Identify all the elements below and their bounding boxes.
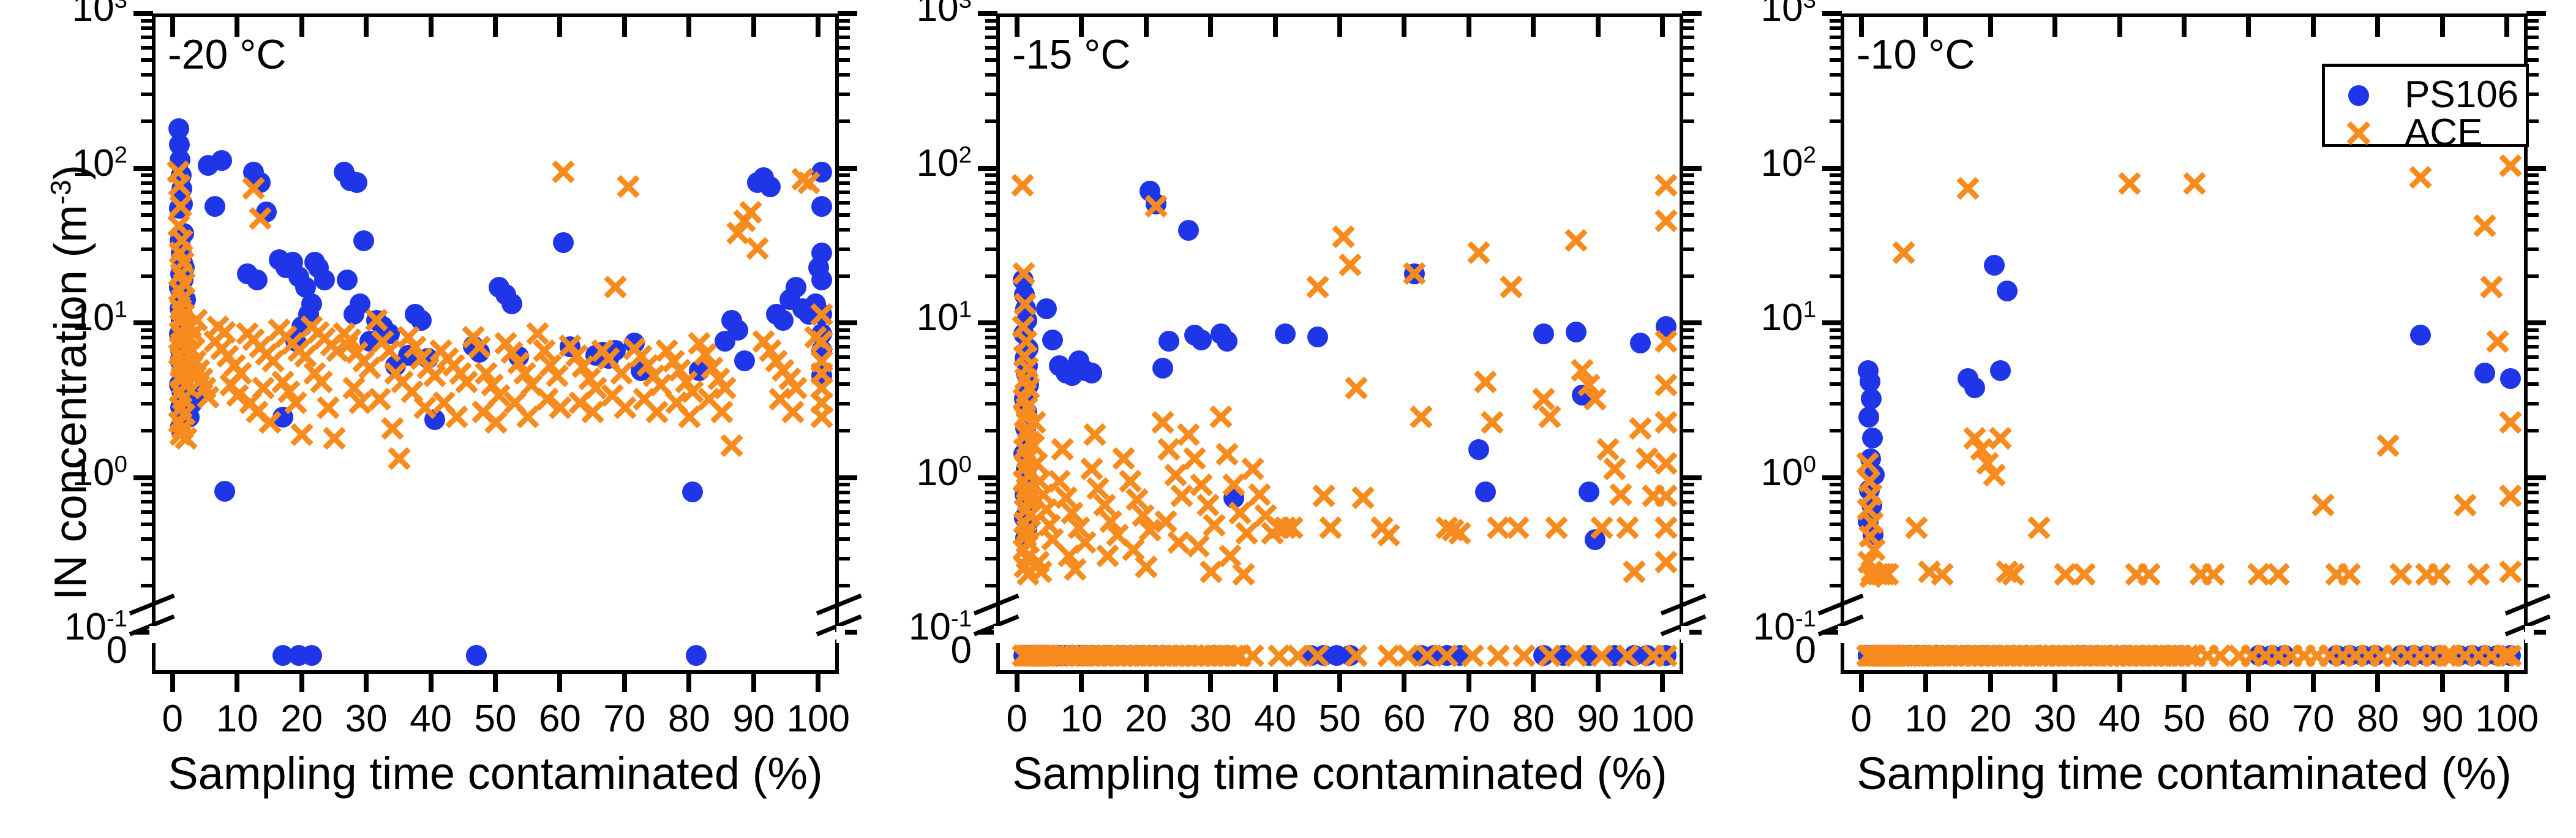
data-point-ace — [443, 404, 470, 431]
data-point-ps106 — [1015, 527, 1036, 548]
x-tick-top — [2052, 17, 2057, 37]
data-point-ace — [440, 352, 467, 379]
data-point-ace — [1039, 526, 1066, 553]
x-marker-stroke — [271, 370, 294, 393]
x-marker-stroke — [271, 370, 294, 393]
legend-marker-x — [2345, 119, 2373, 148]
data-point-ace — [350, 347, 377, 374]
x-marker-stroke — [1209, 406, 1232, 428]
data-point-ps106 — [1533, 323, 1554, 344]
x-tick-major — [2375, 674, 2380, 692]
x-marker-stroke — [1119, 470, 1141, 493]
data-point-ace — [783, 374, 809, 401]
x-marker-stroke — [1255, 504, 1277, 527]
data-point-ace — [1614, 515, 1641, 542]
y-tick-major-right — [2526, 320, 2546, 325]
x-marker-stroke — [791, 167, 814, 190]
data-point-ace — [599, 382, 626, 409]
x-marker-stroke — [1100, 510, 1122, 532]
x-marker-stroke — [1989, 426, 2011, 449]
x-marker-stroke — [1274, 516, 1296, 539]
y-tick-minor-right — [838, 402, 850, 406]
data-point-ace — [1009, 172, 1036, 198]
data-point-ps106 — [1579, 645, 1599, 666]
data-point-ace — [221, 352, 248, 379]
data-point-ace — [276, 378, 302, 405]
data-point-ps106 — [285, 331, 306, 352]
x-marker-stroke — [1196, 494, 1219, 516]
x-marker-stroke — [614, 396, 636, 418]
y-tick-minor-right — [2526, 402, 2539, 406]
x-marker-stroke — [349, 391, 372, 414]
x-marker-stroke — [778, 367, 801, 390]
x-marker-stroke — [1164, 463, 1187, 486]
x-marker-stroke — [242, 328, 265, 351]
data-point-ace — [1860, 561, 1887, 588]
data-point-ace — [1266, 515, 1293, 542]
x-marker-stroke — [1989, 426, 2011, 449]
y-tick-minor — [985, 483, 997, 486]
data-point-ace — [1440, 517, 1466, 544]
data-point-ace — [1653, 371, 1680, 398]
x-marker-stroke — [2415, 563, 2438, 586]
data-point-ace — [483, 409, 509, 436]
x-marker-stroke — [655, 339, 678, 361]
data-point-ps106 — [418, 348, 438, 369]
x-marker-stroke — [1048, 470, 1070, 493]
data-point-ace — [1217, 542, 1244, 569]
y-tick-minor — [1830, 173, 1842, 177]
x-marker-stroke — [633, 388, 656, 410]
data-point-ace — [1133, 553, 1160, 580]
x-marker-stroke — [1616, 516, 1639, 539]
x-marker-stroke — [2499, 560, 2522, 583]
data-point-ps106 — [1637, 645, 1658, 666]
legend: PS106ACE — [2322, 64, 2529, 147]
y-tick-minor — [1830, 584, 1842, 587]
y-tick-minor-right — [838, 584, 850, 587]
x-marker-stroke — [1067, 516, 1090, 539]
x-tick-top — [622, 17, 627, 37]
x-marker-stroke — [740, 200, 762, 223]
x-tick-top — [1660, 17, 1665, 37]
x-marker-stroke — [1306, 276, 1329, 298]
y-tick-minor-right — [1682, 191, 1694, 194]
x-marker-stroke — [617, 175, 639, 198]
x-marker-stroke — [2428, 563, 2451, 586]
x-marker-stroke — [1564, 229, 1587, 252]
data-point-ace — [2116, 170, 2143, 197]
x-marker-stroke — [1235, 522, 1258, 545]
x-marker-stroke — [1106, 523, 1128, 546]
x-marker-stroke — [1051, 438, 1074, 461]
y-tick-major — [133, 320, 153, 325]
x-marker-stroke — [2389, 563, 2412, 586]
x-marker-stroke — [649, 373, 672, 396]
y-tick-minor-right — [838, 368, 850, 371]
x-marker-stroke — [1248, 483, 1271, 506]
data-point-ace — [2310, 492, 2337, 519]
zero-value-strip-panel-3 — [1841, 640, 2528, 674]
x-tick-major — [1079, 674, 1084, 692]
data-point-ace — [518, 371, 545, 398]
legend-item-ace[interactable]: ACE — [2341, 111, 2482, 154]
x-marker-stroke — [223, 354, 246, 377]
x-marker-stroke — [1313, 485, 1335, 507]
x-tick-label: 100 — [1613, 697, 1711, 741]
y-tick-minor-right — [838, 355, 850, 359]
x-marker-stroke — [1013, 555, 1036, 578]
y-tick-minor-right — [1682, 429, 1694, 432]
data-point-ace — [631, 385, 658, 412]
data-point-ps106 — [1178, 220, 1199, 241]
x-marker-stroke — [1655, 209, 1678, 232]
y-tick-major-right — [2526, 11, 2546, 16]
x-marker-stroke — [1862, 563, 1885, 586]
x-marker-stroke — [2428, 563, 2451, 586]
x-marker-stroke — [1177, 423, 1200, 446]
y-tick-minor — [141, 201, 153, 205]
x-marker-stroke — [1345, 377, 1367, 399]
x-marker-stroke — [1866, 563, 1889, 586]
y-tick-minor-right — [838, 274, 850, 278]
data-point-ace — [1981, 461, 2008, 488]
x-marker-stroke — [278, 380, 301, 402]
x-tick-top — [299, 17, 304, 37]
x-marker-stroke — [442, 354, 465, 377]
legend-item-ps106[interactable]: PS106 — [2341, 73, 2518, 116]
x-marker-stroke — [1474, 370, 1496, 393]
y-tick-minor — [1830, 26, 1842, 30]
x-marker-stroke — [1067, 516, 1090, 539]
data-point-ace — [763, 347, 790, 374]
data-point-ps106 — [1656, 316, 1677, 337]
y-tick-minor — [1830, 274, 1842, 278]
data-point-ace — [253, 341, 280, 368]
x-marker-stroke — [1487, 644, 1509, 666]
x-marker-stroke — [278, 380, 301, 402]
x-marker-stroke — [1158, 438, 1181, 461]
x-marker-stroke — [246, 401, 268, 423]
x-marker-stroke — [1209, 406, 1232, 428]
data-point-ace — [260, 347, 287, 374]
x-marker-stroke — [481, 373, 504, 396]
data-point-ps106 — [1858, 407, 1879, 428]
x-marker-stroke — [1655, 452, 1678, 475]
x-marker-stroke — [207, 315, 230, 338]
data-point-ps106 — [689, 360, 710, 381]
data-point-ps106 — [272, 407, 293, 428]
y-tick-minor-right — [2526, 173, 2539, 177]
x-tick-major — [1596, 674, 1601, 692]
x-tick-major — [1273, 674, 1278, 692]
data-point-ace — [1653, 549, 1680, 576]
x-marker-stroke — [1545, 516, 1568, 539]
x-marker-stroke — [1931, 563, 1954, 586]
x-marker-stroke — [226, 383, 249, 406]
data-point-ace — [1062, 556, 1089, 583]
x-marker-stroke — [2499, 411, 2522, 434]
x-marker-stroke — [710, 401, 733, 423]
data-point-ace — [757, 337, 784, 364]
x-marker-stroke — [203, 330, 226, 353]
x-marker-stroke — [252, 377, 274, 399]
data-point-ace — [399, 378, 426, 405]
x-marker-stroke — [1248, 483, 1271, 506]
x-marker-stroke — [1996, 560, 2018, 583]
x-marker-stroke — [1435, 516, 1458, 539]
y-tick-minor — [985, 181, 997, 185]
data-point-ace — [1868, 561, 1894, 588]
data-point-ace — [1310, 483, 1337, 510]
data-point-ace — [534, 385, 561, 412]
x-marker-stroke — [720, 434, 743, 457]
x-marker-stroke — [1861, 560, 1883, 583]
data-point-ace — [473, 360, 500, 387]
data-point-ps106 — [1585, 529, 1605, 550]
x-marker-stroke — [2376, 434, 2399, 457]
y-tick-label: 103 — [1688, 0, 1816, 30]
data-point-ps106 — [1307, 327, 1328, 347]
x-marker-stroke — [481, 373, 504, 396]
data-point-ace — [234, 320, 261, 347]
x-marker-stroke — [1267, 516, 1290, 539]
data-point-ps106 — [1081, 363, 1102, 383]
x-marker-stroke — [220, 373, 242, 396]
x-marker-stroke — [536, 388, 558, 410]
data-point-ace — [201, 328, 228, 355]
data-point-ace — [1855, 549, 1882, 576]
data-point-ace — [1025, 549, 1052, 576]
data-point-ace — [1214, 440, 1241, 467]
x-marker-stroke — [1655, 551, 1678, 573]
x-marker-stroke — [332, 322, 355, 345]
data-point-ace — [579, 399, 606, 426]
x-marker-stroke — [1892, 241, 1915, 264]
x-marker-stroke — [352, 349, 375, 372]
x-tick-top — [2182, 17, 2187, 37]
x-marker-stroke — [1027, 551, 1050, 573]
y-tick-minor — [141, 557, 153, 561]
x-marker-stroke — [1135, 555, 1158, 578]
x-marker-stroke — [1274, 516, 1296, 539]
x-marker-stroke — [226, 383, 249, 406]
x-marker-stroke — [662, 349, 685, 372]
x-tick-top — [493, 17, 498, 37]
y-tick-minor — [141, 336, 153, 339]
y-tick-minor-right — [1682, 355, 1694, 359]
data-point-ace — [2387, 561, 2414, 588]
data-point-ace — [1375, 521, 1402, 548]
y-tick-label: 100 — [0, 451, 127, 494]
x-marker-stroke — [2305, 644, 2328, 666]
x-marker-stroke — [1862, 563, 1885, 586]
x-marker-stroke — [1500, 276, 1522, 298]
data-point-ps106 — [466, 645, 487, 666]
x-marker-stroke — [1016, 546, 1038, 569]
data-point-ace — [1929, 561, 1956, 588]
data-point-ace — [2465, 561, 2492, 588]
y-tick-minor — [1830, 181, 1842, 185]
y-tick-minor — [141, 58, 153, 62]
x-marker-stroke — [1280, 516, 1303, 539]
x-marker-stroke — [446, 406, 468, 428]
y-tick-minor — [985, 336, 997, 339]
x-marker-stroke — [811, 406, 833, 428]
x-marker-stroke — [1655, 411, 1678, 434]
x-marker-stroke — [772, 359, 794, 382]
legend-label: PS106 — [2405, 73, 2518, 116]
x-marker-stroke — [2292, 644, 2315, 666]
legend-marker-circle — [2348, 85, 2369, 106]
data-point-ace — [2413, 561, 2440, 588]
data-point-ace — [1304, 274, 1331, 301]
y-tick-minor — [141, 181, 153, 185]
y-tick-minor — [1830, 537, 1842, 541]
y-tick-minor-right — [1682, 36, 1694, 39]
x-marker-stroke — [1100, 510, 1122, 532]
data-point-ps106 — [631, 360, 652, 381]
data-point-ps106 — [760, 176, 781, 197]
y-tick-minor — [141, 483, 153, 486]
data-point-ps106 — [2500, 645, 2521, 666]
x-marker-stroke — [2467, 563, 2490, 586]
x-marker-stroke — [2002, 563, 2025, 586]
x-marker-stroke — [332, 322, 355, 345]
data-point-ps106 — [682, 481, 703, 502]
x-marker-stroke — [665, 391, 688, 414]
x-marker-stroke — [1571, 359, 1593, 382]
data-point-ace — [1465, 240, 1492, 266]
y-tick-minor-right — [1682, 228, 1694, 232]
data-point-ace — [2336, 561, 2363, 588]
data-point-ace — [576, 365, 603, 392]
x-marker-stroke — [2073, 563, 2096, 586]
x-marker-stroke — [242, 328, 265, 351]
y-tick-minor — [1830, 73, 1842, 77]
x-marker-stroke — [2499, 154, 2522, 176]
y-tick-minor — [985, 73, 997, 77]
y-tick-major — [1822, 166, 1842, 171]
x-marker-stroke — [707, 367, 730, 390]
data-point-ace — [718, 432, 745, 459]
x-tick-top — [557, 17, 562, 37]
x-marker-stroke — [1983, 463, 2005, 486]
y-tick-minor — [1830, 510, 1842, 514]
x-marker-stroke — [216, 345, 239, 368]
y-tick-minor — [1830, 191, 1842, 194]
data-point-ace — [544, 362, 571, 389]
x-marker-stroke — [1597, 438, 1620, 461]
x-marker-stroke — [1164, 463, 1187, 486]
y-tick-major — [1822, 11, 1842, 16]
x-axis-title-panel-3: Sampling time contaminated (%) — [1816, 747, 2552, 799]
y-tick-minor — [985, 328, 997, 332]
x-marker-stroke — [1042, 528, 1064, 551]
y-tick-minor-right — [2526, 46, 2539, 50]
data-point-ace — [1433, 515, 1460, 542]
x-tick-major — [751, 674, 756, 692]
x-marker-stroke — [1866, 563, 1889, 586]
x-tick-top — [235, 17, 239, 37]
y-tick-minor — [985, 510, 997, 514]
data-point-ps106 — [398, 345, 419, 366]
x-marker-stroke — [552, 160, 575, 183]
x-marker-stroke — [1635, 447, 1658, 470]
x-marker-stroke — [1096, 544, 1119, 567]
x-marker-stroke — [1200, 560, 1222, 583]
x-marker-stroke — [517, 406, 539, 428]
data-point-ps106 — [773, 310, 794, 331]
x-marker-stroke — [336, 334, 358, 357]
y-tick-minor-right — [838, 510, 850, 514]
x-marker-stroke — [317, 396, 339, 418]
legend-label: ACE — [2405, 111, 2482, 154]
y-tick-minor — [1830, 523, 1842, 526]
data-point-ace — [1961, 425, 1988, 451]
data-point-ace — [1317, 515, 1344, 542]
data-point-ps106 — [1158, 331, 1179, 352]
y-tick-minor — [141, 191, 153, 194]
x-marker-stroke — [368, 388, 391, 410]
x-marker-stroke — [584, 377, 607, 399]
x-marker-stroke — [1332, 225, 1354, 248]
y-tick-label: 101 — [0, 296, 127, 339]
y-tick-minor — [141, 500, 153, 504]
x-marker-stroke — [1861, 560, 1883, 583]
data-point-ace — [240, 327, 267, 353]
x-marker-stroke — [1125, 488, 1148, 511]
x-marker-stroke — [487, 383, 510, 406]
data-point-ace — [486, 382, 513, 409]
data-point-ace — [1233, 520, 1260, 547]
data-point-ps106 — [1572, 385, 1593, 406]
x-marker-stroke — [765, 349, 788, 372]
y-tick-minor-right — [2526, 382, 2539, 386]
y-tick-minor — [141, 584, 153, 587]
data-point-ps106 — [811, 304, 832, 325]
x-marker-stroke — [669, 359, 691, 382]
x-marker-stroke — [236, 322, 258, 345]
x-tick-major — [1923, 674, 1928, 692]
y-tick-minor — [141, 491, 153, 494]
x-marker-stroke — [1242, 458, 1264, 480]
y-tick-minor-right — [2526, 328, 2539, 332]
data-point-ace — [1168, 483, 1195, 510]
data-point-ace — [2497, 152, 2524, 179]
x-marker-stroke — [1873, 563, 1896, 586]
x-marker-stroke — [688, 331, 710, 354]
data-point-ace — [479, 371, 506, 398]
x-marker-stroke — [1532, 388, 1555, 410]
x-marker-stroke — [1167, 531, 1190, 554]
data-point-ace — [224, 382, 251, 409]
data-point-ace — [1653, 483, 1680, 510]
x-tick-major — [2182, 674, 2187, 692]
x-marker-stroke — [504, 391, 527, 414]
y-tick-minor — [141, 523, 153, 526]
x-marker-stroke — [1158, 438, 1181, 461]
x-tick-major — [1337, 674, 1342, 692]
x-tick-major — [1466, 674, 1471, 692]
x-tick-top — [2117, 17, 2122, 37]
y-tick-minor-right — [2526, 584, 2539, 587]
data-point-ace — [269, 368, 296, 395]
y-tick-minor — [141, 510, 153, 514]
data-point-ace — [1165, 529, 1192, 556]
x-marker-stroke — [1629, 417, 1651, 439]
data-point-ace — [1337, 252, 1364, 279]
